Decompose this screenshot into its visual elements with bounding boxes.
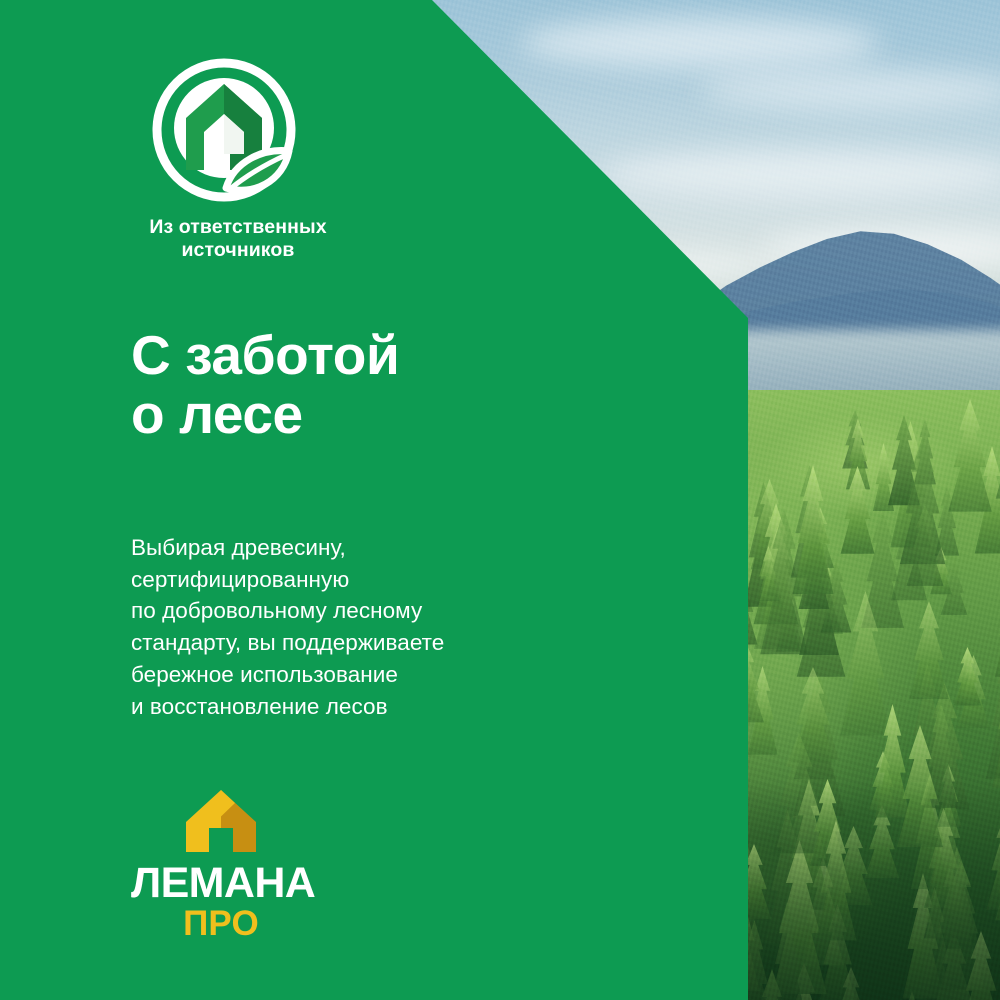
poster-content: Из ответственных источников С заботой о … [0,0,1000,1000]
brand-lockup: ЛЕМАНА ПРО [131,788,311,941]
brand-subname: ПРО [131,906,311,941]
brand-name: ЛЕМАНА [131,862,311,905]
poster-canvas: Из ответственных источников С заботой о … [0,0,1000,1000]
responsible-sources-caption: Из ответственных источников [128,216,348,262]
responsible-sources-badge: Из ответственных источников [128,56,348,262]
body-paragraph: Выбирая древесину, сертифицированную по … [131,532,444,722]
responsible-sources-logo [150,56,298,204]
page-title: С заботой о лесе [131,326,399,444]
lemana-house-icon [184,788,258,854]
